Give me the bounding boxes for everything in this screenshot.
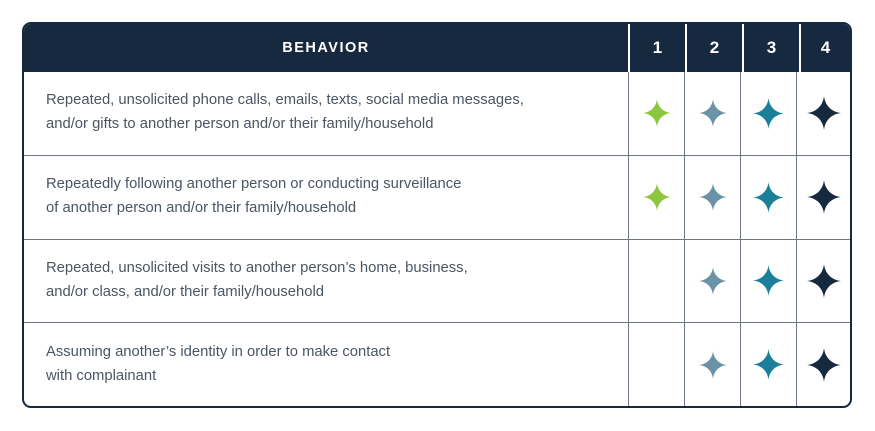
level-1-cell: [628, 72, 684, 155]
level-1-cell: [628, 323, 684, 406]
column-header-level-1: 1: [628, 24, 685, 72]
level-2-cell: [684, 156, 740, 239]
level-4-cell: [796, 156, 850, 239]
empty-cell-placeholder: [640, 264, 674, 298]
table-row: Repeated, unsolicited phone calls, email…: [24, 72, 850, 155]
behavior-cell: Assuming another’s identity in order to …: [24, 323, 628, 406]
sparkle-star-icon: [643, 183, 671, 211]
behavior-description: Repeated, unsolicited phone calls, email…: [46, 89, 524, 137]
sparkle-star-icon: [699, 183, 727, 211]
level-2-cell: [684, 323, 740, 406]
column-header-level-3: 3: [742, 24, 799, 72]
level-1-cell: [628, 156, 684, 239]
level-1-cell: [628, 240, 684, 323]
behavior-cell: Repeatedly following another person or c…: [24, 156, 628, 239]
behavior-cell: Repeated, unsolicited phone calls, email…: [24, 72, 628, 155]
table-row: Repeatedly following another person or c…: [24, 155, 850, 239]
level-3-cell: [740, 156, 796, 239]
sparkle-star-icon: [699, 99, 727, 127]
behavior-description: Repeatedly following another person or c…: [46, 173, 461, 221]
sparkle-star-icon: [753, 182, 784, 213]
level-4-cell: [796, 240, 850, 323]
sparkle-star-icon: [807, 180, 841, 214]
level-2-cell: [684, 240, 740, 323]
sparkle-star-icon: [753, 349, 784, 380]
sparkle-star-icon: [699, 351, 727, 379]
sparkle-star-icon: [643, 99, 671, 127]
level-3-cell: [740, 240, 796, 323]
sparkle-star-icon: [753, 265, 784, 296]
column-header-level-2: 2: [685, 24, 742, 72]
level-3-cell: [740, 323, 796, 406]
level-4-cell: [796, 72, 850, 155]
table-row: Assuming another’s identity in order to …: [24, 322, 850, 406]
level-4-cell: [796, 323, 850, 406]
table-body: Repeated, unsolicited phone calls, email…: [24, 72, 850, 406]
behavior-matrix-table: BEHAVIOR 1 2 3 4 Repeated, unsolicited p…: [22, 22, 852, 408]
level-2-cell: [684, 72, 740, 155]
sparkle-star-icon: [753, 98, 784, 129]
table-header-row: BEHAVIOR 1 2 3 4: [24, 24, 850, 72]
sparkle-star-icon: [699, 267, 727, 295]
empty-cell-placeholder: [640, 348, 674, 382]
sparkle-star-icon: [807, 264, 841, 298]
column-header-behavior: BEHAVIOR: [24, 24, 628, 72]
table-row: Repeated, unsolicited visits to another …: [24, 239, 850, 323]
sparkle-star-icon: [807, 348, 841, 382]
column-header-level-4: 4: [799, 24, 850, 72]
sparkle-star-icon: [807, 96, 841, 130]
level-3-cell: [740, 72, 796, 155]
behavior-description: Repeated, unsolicited visits to another …: [46, 257, 468, 305]
behavior-description: Assuming another’s identity in order to …: [46, 341, 390, 389]
page-root: BEHAVIOR 1 2 3 4 Repeated, unsolicited p…: [0, 0, 875, 431]
behavior-cell: Repeated, unsolicited visits to another …: [24, 240, 628, 323]
